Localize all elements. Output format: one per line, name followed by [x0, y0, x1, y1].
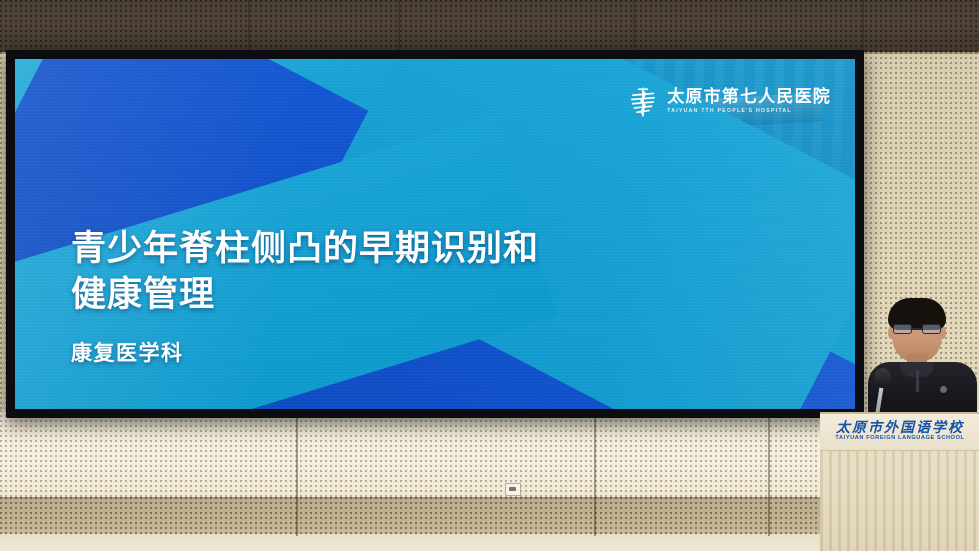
wall-outlet-plate[interactable]	[505, 483, 521, 496]
wall-seam	[248, 0, 250, 56]
upper-dark-wall-panels	[0, 0, 979, 56]
school-name-cn: 太原市外国语学校	[830, 417, 970, 437]
wall-seam	[633, 0, 635, 56]
school-name-en: TAIYUAN FOREIGN LANGUAGE SCHOOL	[826, 435, 974, 441]
hospital-name-cn: 太原市第七人民医院	[667, 89, 831, 106]
speaker-placket	[916, 370, 919, 392]
wall-seam	[862, 0, 864, 56]
microphone-head	[874, 368, 891, 388]
wall-seam	[296, 418, 298, 536]
speaker-shirt-logo	[940, 386, 947, 393]
spine-caduceus-icon	[626, 85, 660, 119]
hospital-name-en: TAIYUAN 7TH PEOPLE'S HOSPITAL	[667, 109, 831, 114]
podium-nameplate: 太原市外国语学校 TAIYUAN FOREIGN LANGUAGE SCHOOL	[820, 414, 979, 451]
slide-title: 青少年脊柱侧凸的早期识别和 健康管理	[71, 227, 691, 318]
conference-hall-scene: 太 原 市 第 七	[0, 0, 979, 551]
hospital-logo: 太原市第七人民医院 TAIYUAN 7TH PEOPLE'S HOSPITAL	[626, 85, 831, 119]
wall-seam	[768, 418, 770, 536]
slide-subtitle: 康复医学科	[71, 337, 184, 367]
wall-seam	[398, 0, 400, 56]
led-wall-display[interactable]: 太 原 市 第 七	[6, 50, 864, 418]
podium: 太原市外国语学校 TAIYUAN FOREIGN LANGUAGE SCHOOL	[820, 412, 979, 551]
slide-title-line1: 青少年脊柱侧凸的早期识别和	[71, 227, 691, 273]
slide-title-line2: 健康管理	[71, 273, 691, 319]
speaker-glasses	[893, 324, 941, 334]
wall-seam	[594, 418, 596, 536]
presentation-slide: 太 原 市 第 七	[15, 59, 855, 409]
